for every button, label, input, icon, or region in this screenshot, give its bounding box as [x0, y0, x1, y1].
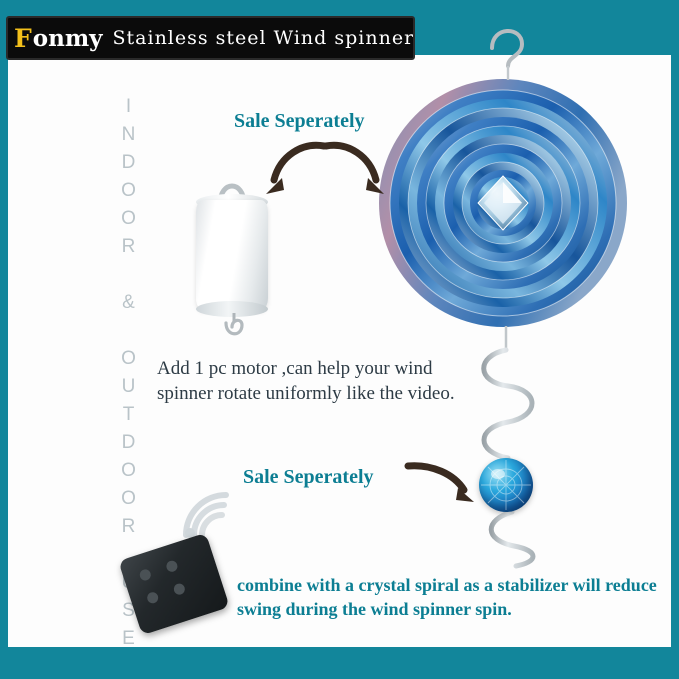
remote-button [172, 582, 186, 596]
wind-spinner-object [378, 78, 628, 328]
brand-banner-inner: F onmy Stainless steel Wind spinner [8, 18, 413, 58]
crystal-ball-facets-icon [479, 458, 533, 512]
brand-logo-text: onmy [33, 27, 103, 50]
motor-description-text: Add 1 pc motor ,can help your wind spinn… [157, 357, 487, 406]
remote-button [138, 568, 152, 582]
arrow-bottom-icon [404, 460, 478, 508]
s-hook-icon [470, 18, 550, 88]
wifi-signal-icon [176, 487, 232, 543]
brand-logo-initial: F [14, 26, 32, 51]
wind-spinner-svg [378, 78, 628, 328]
brand-banner: F onmy Stainless steel Wind spinner [6, 16, 415, 60]
remote-button [146, 591, 160, 605]
remote-button [165, 559, 179, 573]
arrow-right-icon [318, 140, 388, 196]
brand-tagline: Stainless steel Wind spinner [113, 29, 415, 48]
sale-separately-label-bottom: Sale Seperately [243, 466, 374, 489]
product-image: F onmy Stainless steel Wind spinner INDO… [0, 0, 679, 679]
indoor-outdoor-use-text: INDOOR & OUTDOOR USE [104, 96, 138, 556]
motor-body [196, 200, 268, 310]
spiral-description-text: combine with a crystal spiral as a stabi… [237, 573, 667, 622]
motor-hook-icon [216, 313, 252, 343]
sale-separately-label-top: Sale Seperately [234, 110, 365, 133]
